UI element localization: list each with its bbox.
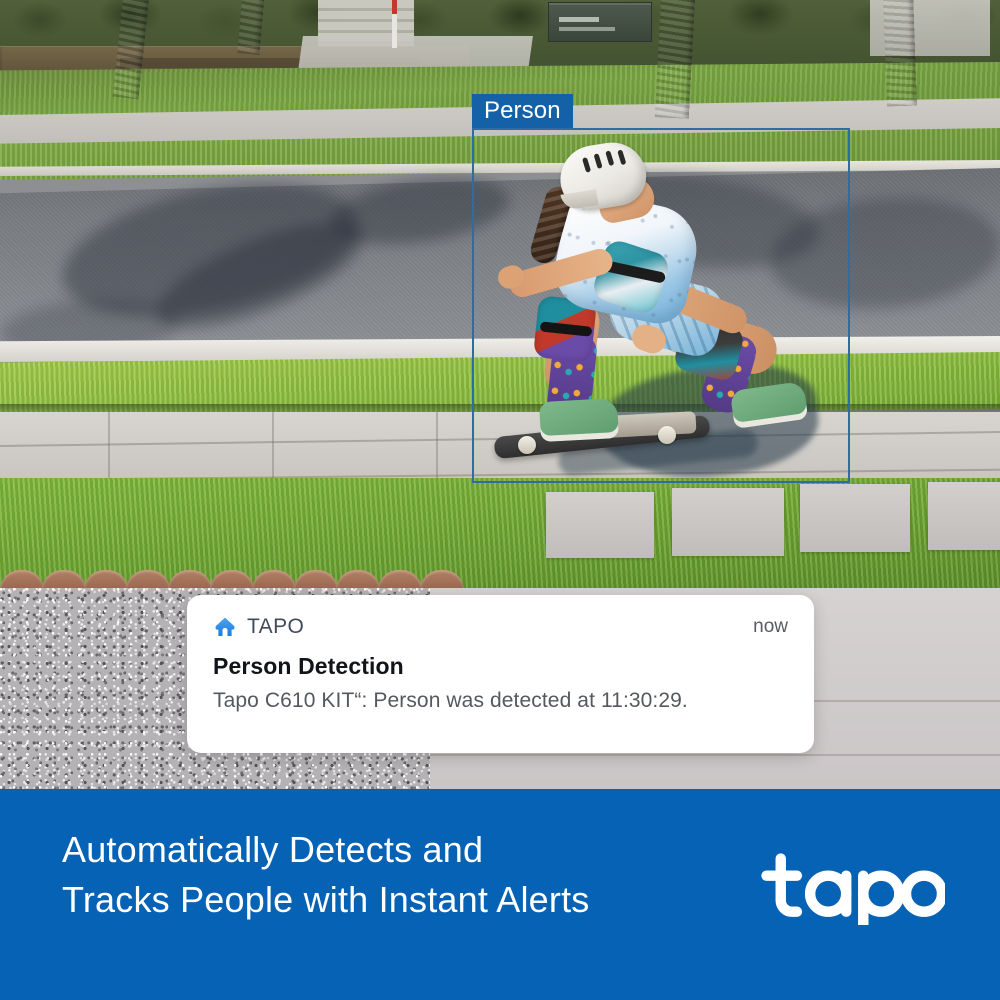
marketing-screenshot: Person TAPO no [0,0,1000,1000]
marketing-banner: Automatically Detects and Tracks People … [0,789,1000,1000]
notification-body: Tapo C610 KIT“: Person was detected at 1… [213,689,794,713]
headline-line-1: Automatically Detects and [62,825,590,875]
home-icon [213,615,237,639]
stepping-stone [672,488,784,556]
utility-box-label [559,17,599,22]
app-name: TAPO [247,615,304,639]
push-notification-card[interactable]: TAPO now Person Detection Tapo C610 KIT“… [187,595,814,753]
notification-timestamp: now [753,616,788,638]
marker-post [392,0,397,48]
stepping-stone [546,492,654,558]
app-brand: TAPO [213,615,304,639]
stepping-stone [800,484,910,552]
person-detection-box [472,128,850,483]
utility-box-label-2 [559,27,615,31]
stepping-stone [928,482,1000,550]
notification-header: TAPO now [213,613,788,641]
palm-tree-trunk [655,0,695,119]
palm-tree-trunk [883,0,917,106]
detection-label: Person [472,94,573,128]
banner-headline: Automatically Detects and Tracks People … [62,825,590,925]
notification-title: Person Detection [213,653,404,680]
utility-box [548,2,652,42]
headline-line-2: Tracks People with Instant Alerts [62,875,590,925]
